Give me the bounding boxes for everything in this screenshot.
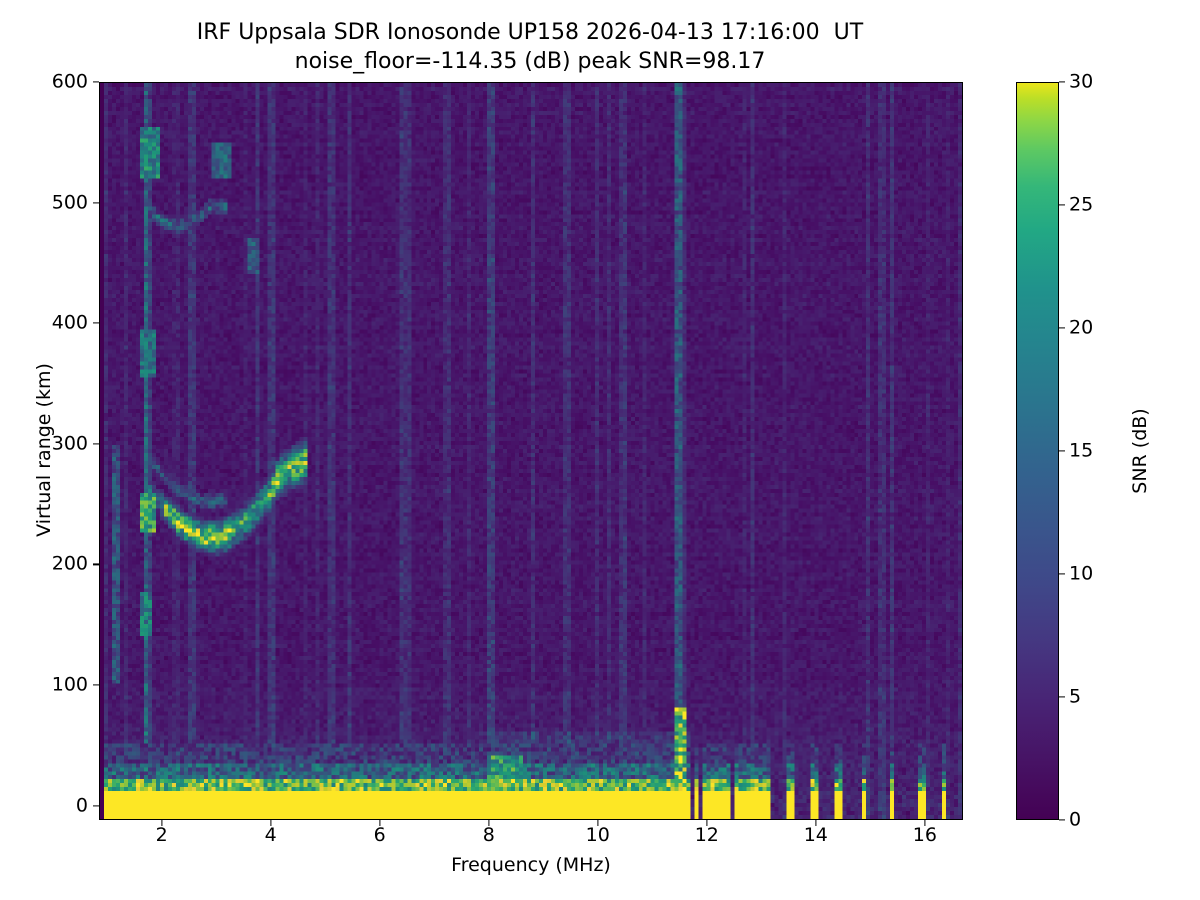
y-tick-mark xyxy=(93,564,99,565)
x-axis-label: Frequency (MHz) xyxy=(99,854,963,876)
y-tick-label-0: 0 xyxy=(0,796,88,815)
x-tick-label-4: 4 xyxy=(265,826,277,845)
colorbar-tick-label-30: 30 xyxy=(1069,73,1093,92)
x-tick-label-6: 6 xyxy=(374,826,386,845)
x-tick-label-10: 10 xyxy=(586,826,610,845)
colorbar-tick-label-15: 15 xyxy=(1069,442,1093,461)
y-tick-mark xyxy=(93,684,99,685)
ionogram-figure: IRF Uppsala SDR Ionosonde UP158 2026-04-… xyxy=(0,0,1200,900)
title-line-2: noise_floor=-114.35 (dB) peak SNR=98.17 xyxy=(0,47,1060,76)
y-tick-mark xyxy=(93,81,99,82)
colorbar-tick-label-0: 0 xyxy=(1069,811,1081,830)
y-tick-label-400: 400 xyxy=(0,314,88,333)
y-tick-mark xyxy=(93,202,99,203)
y-tick-label-500: 500 xyxy=(0,193,88,212)
colorbar-tick-mark xyxy=(1059,204,1065,205)
y-tick-label-200: 200 xyxy=(0,555,88,574)
plot-area xyxy=(99,82,963,820)
colorbar-tick-label-5: 5 xyxy=(1069,688,1081,707)
colorbar-tick-mark xyxy=(1059,81,1065,82)
colorbar-tick-label-20: 20 xyxy=(1069,319,1093,338)
colorbar-tick-mark xyxy=(1059,573,1065,574)
ionogram-canvas xyxy=(100,83,962,819)
colorbar xyxy=(1016,82,1059,820)
x-tick-label-12: 12 xyxy=(695,826,719,845)
colorbar-tick-mark xyxy=(1059,696,1065,697)
x-tick-label-8: 8 xyxy=(483,826,495,845)
x-tick-label-2: 2 xyxy=(156,826,168,845)
x-tick-label-14: 14 xyxy=(804,826,828,845)
figure-title: IRF Uppsala SDR Ionosonde UP158 2026-04-… xyxy=(0,18,1060,76)
colorbar-tick-mark xyxy=(1059,327,1065,328)
x-tick-label-16: 16 xyxy=(913,826,937,845)
y-tick-label-300: 300 xyxy=(0,434,88,453)
colorbar-tick-mark xyxy=(1059,819,1065,820)
colorbar-tick-label-10: 10 xyxy=(1069,565,1093,584)
colorbar-label: SNR (dB) xyxy=(1129,311,1151,591)
ionogram-heatmap xyxy=(100,83,962,819)
y-tick-label-100: 100 xyxy=(0,675,88,694)
title-line-1: IRF Uppsala SDR Ionosonde UP158 2026-04-… xyxy=(0,18,1060,47)
colorbar-tick-label-25: 25 xyxy=(1069,196,1093,215)
y-tick-mark xyxy=(93,805,99,806)
colorbar-tick-mark xyxy=(1059,450,1065,451)
y-tick-mark xyxy=(93,323,99,324)
y-tick-label-600: 600 xyxy=(0,73,88,92)
y-tick-mark xyxy=(93,443,99,444)
